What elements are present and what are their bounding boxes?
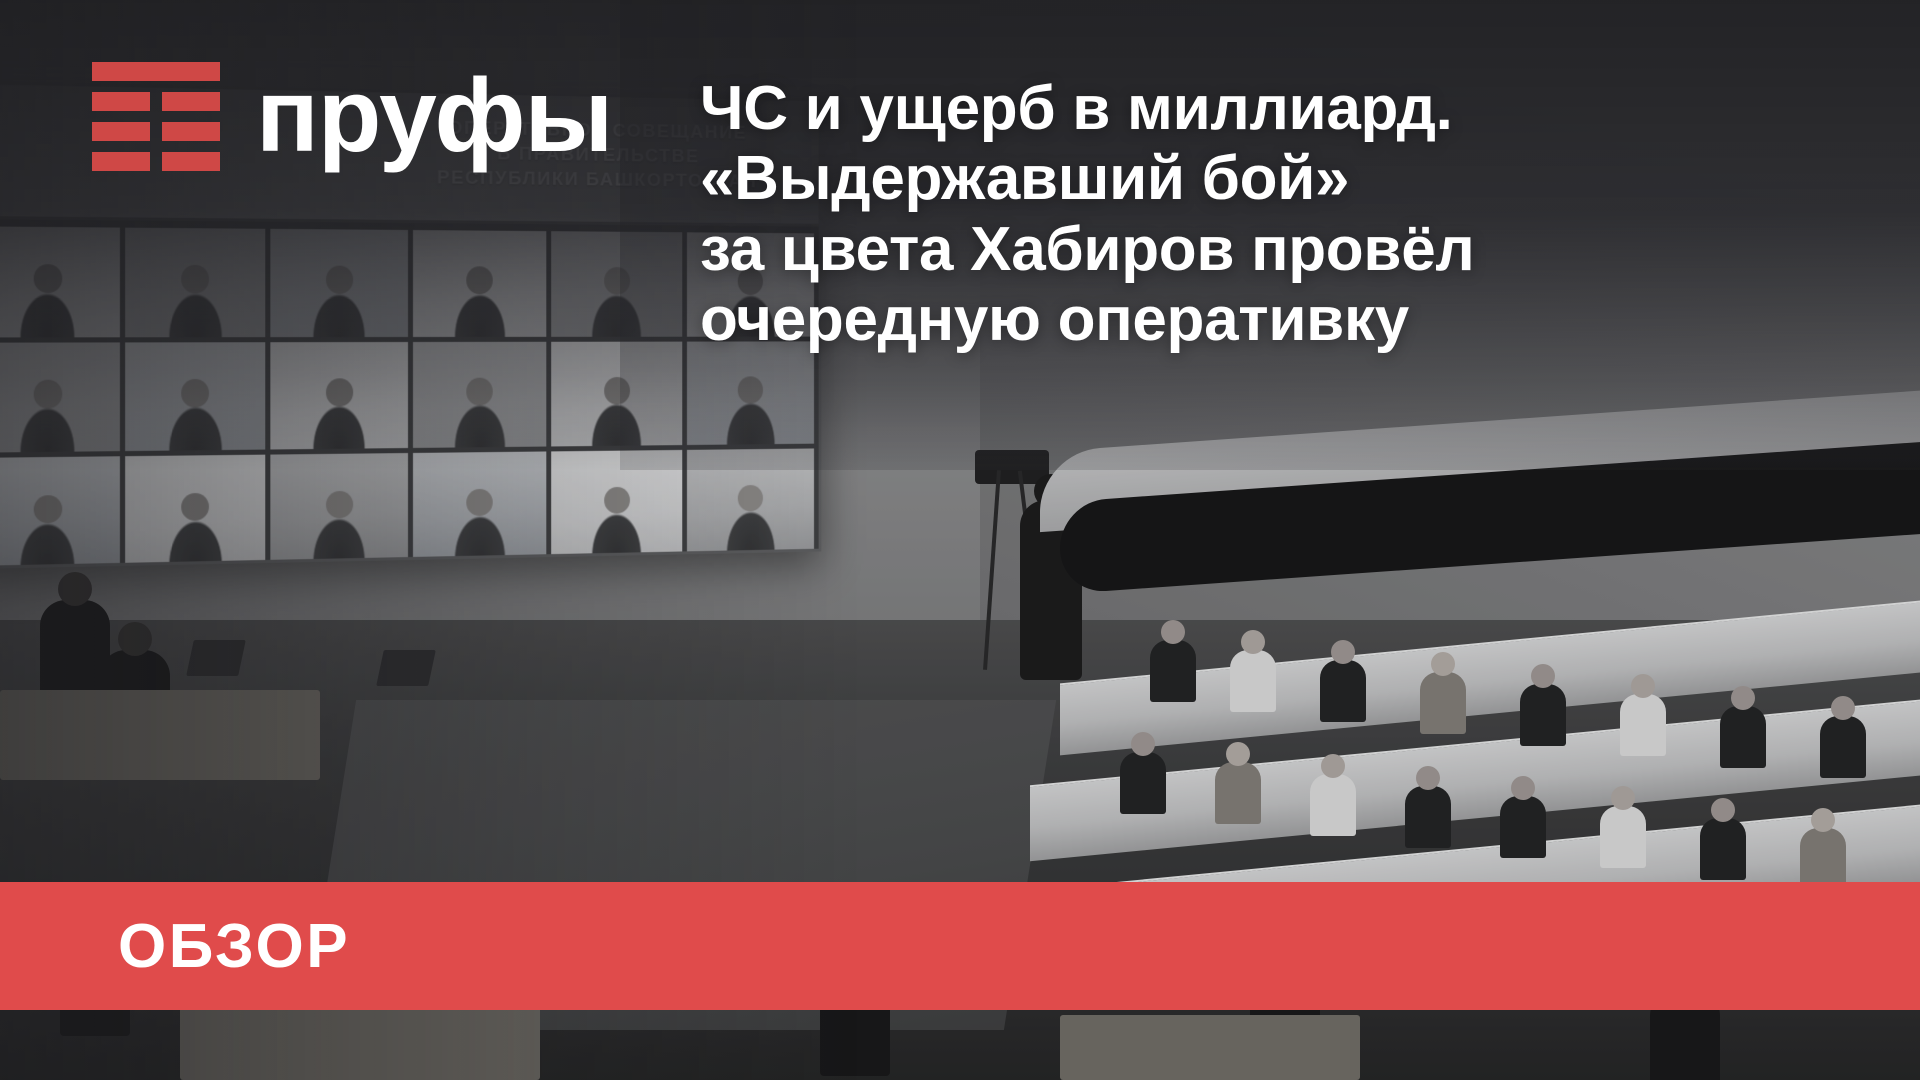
logo-bar xyxy=(92,62,220,81)
logo-mark-row xyxy=(92,92,220,111)
logo-bar xyxy=(162,92,220,111)
news-cover-card: ОПЕРАТИВНОЕ СОВЕЩАНИЕ В ПРАВИТЕЛЬСТВЕ РЕ… xyxy=(0,0,1920,1080)
attendee xyxy=(1800,828,1846,890)
page-title: ЧС и ущерб в миллиард. «Выдержавший бой»… xyxy=(700,74,1880,355)
logo-mark-row xyxy=(92,122,220,141)
headline-line-3: за цвета Хабиров провёл xyxy=(700,215,1880,285)
attendee xyxy=(1150,640,1196,702)
attendee xyxy=(1420,672,1466,734)
attendee xyxy=(1120,752,1166,814)
attendee xyxy=(1405,786,1451,848)
attendee xyxy=(1700,818,1746,880)
logo-bar xyxy=(92,92,150,111)
attendee xyxy=(1500,796,1546,858)
category-label: ОБЗОР xyxy=(118,911,350,982)
attendee xyxy=(1310,774,1356,836)
logo-bar xyxy=(92,122,150,141)
attendee xyxy=(1620,694,1666,756)
attendee xyxy=(1230,650,1276,712)
logo-mark-row xyxy=(92,152,220,171)
headline-line-2: «Выдержавший бой» xyxy=(700,144,1880,214)
attendee xyxy=(1520,684,1566,746)
logo-bar xyxy=(162,152,220,171)
logo-mark-row xyxy=(92,62,220,81)
brand-wordmark: пруфы xyxy=(256,74,612,159)
attendee xyxy=(1600,806,1646,868)
attendee xyxy=(1820,716,1866,778)
logo-bar xyxy=(162,122,220,141)
category-banner[interactable]: ОБЗОР xyxy=(0,882,1920,1010)
attendee xyxy=(1215,762,1261,824)
headline-line-4: очередную оперативку xyxy=(700,285,1880,355)
attendee xyxy=(1720,706,1766,768)
attendee xyxy=(1320,660,1366,722)
prufy-striped-logo-mark-icon xyxy=(92,62,220,171)
headline-line-1: ЧС и ущерб в миллиард. xyxy=(700,74,1880,144)
desk xyxy=(1060,1015,1360,1080)
brand-logo[interactable]: пруфы xyxy=(92,62,612,171)
logo-bar xyxy=(92,152,150,171)
